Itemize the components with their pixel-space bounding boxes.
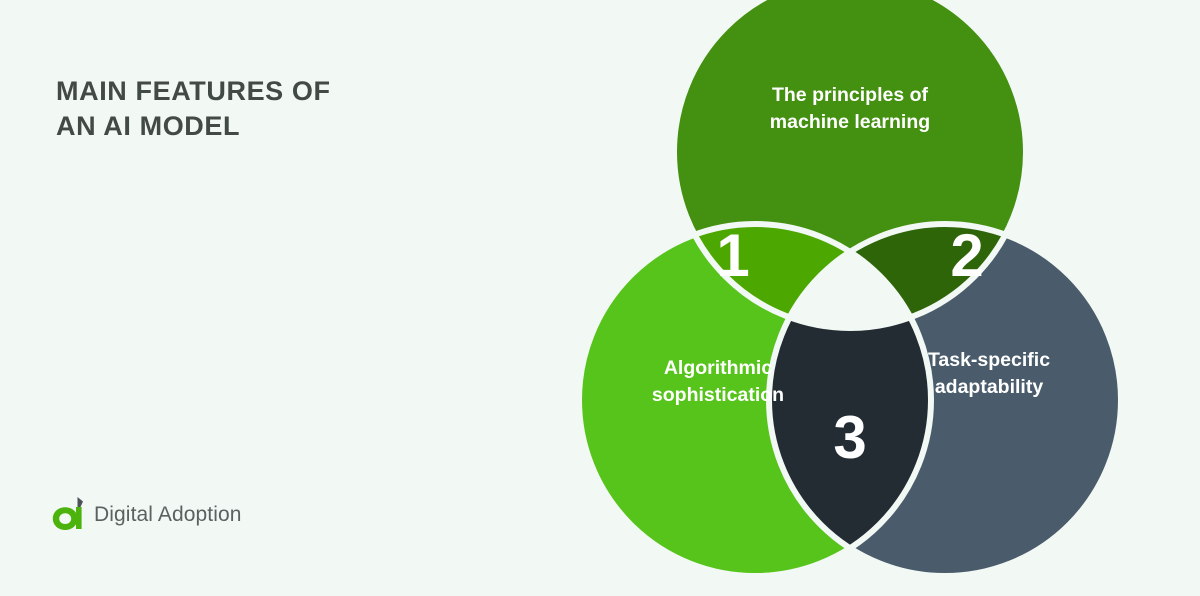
- page-title: MAIN FEATURES OF AN AI MODEL: [56, 74, 476, 143]
- venn-label-left-line2: sophistication: [652, 384, 784, 406]
- venn-label-right-line2: adaptability: [935, 376, 1044, 398]
- venn-label-top-line2: machine learning: [770, 111, 930, 133]
- brand-name: Digital Adoption: [94, 503, 242, 527]
- digital-adoption-logo-icon: [52, 495, 88, 535]
- venn-number-1: 1: [716, 222, 749, 289]
- venn-label-top-line1: The principles of: [772, 84, 929, 106]
- venn-diagram: The principles of machine learning Algor…: [500, 0, 1200, 596]
- venn-number-2: 2: [950, 222, 983, 289]
- diagram-canvas: MAIN FEATURES OF AN AI MODEL: [0, 0, 1200, 583]
- venn-number-3: 3: [833, 404, 866, 471]
- venn-label-left-line1: Algorithmic: [664, 357, 772, 379]
- brand-logo[interactable]: Digital Adoption: [52, 495, 242, 535]
- venn-label-right-line1: Task-specific: [928, 349, 1050, 371]
